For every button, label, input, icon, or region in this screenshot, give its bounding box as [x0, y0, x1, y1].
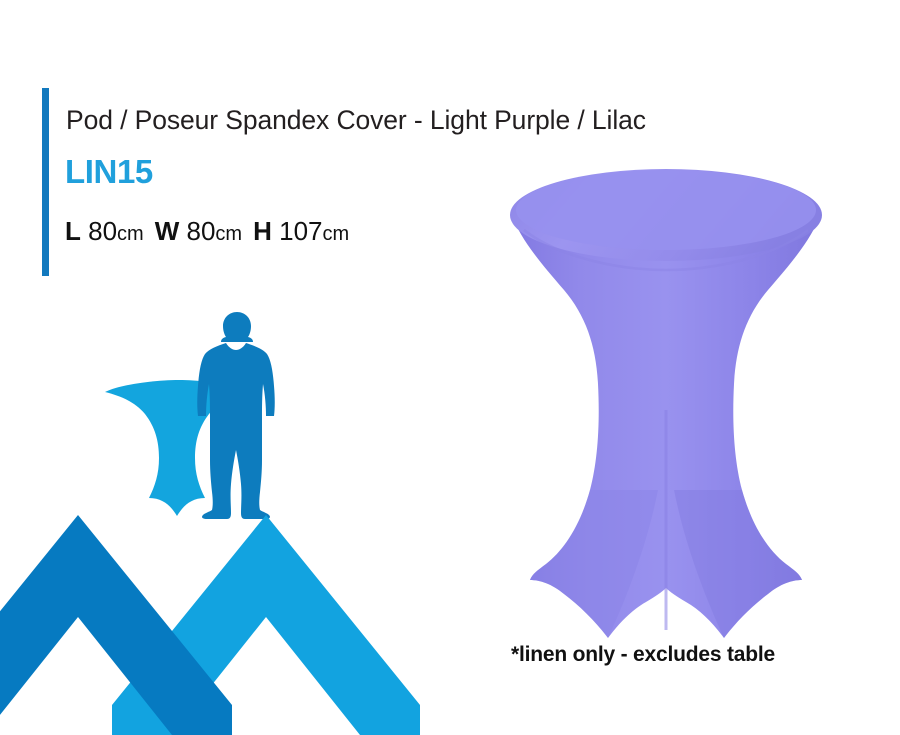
product-sku: LIN15	[65, 153, 153, 191]
dimensions-line: L 80cmW 80cmH 107cm	[65, 216, 349, 247]
dimension-length: L 80cm	[65, 216, 144, 246]
dimension-width-value: 80	[187, 216, 216, 246]
dimension-height: H 107cm	[253, 216, 349, 246]
spandex-cover-illustration	[480, 160, 900, 650]
person-silhouette-icon	[197, 312, 275, 519]
dimension-height-unit: cm	[323, 223, 350, 245]
accent-bar	[42, 88, 49, 276]
chevron-logo	[0, 505, 420, 735]
dimension-width-key: W	[155, 216, 180, 246]
scale-comparison-graphic	[95, 310, 305, 525]
dimension-width: W 80cm	[155, 216, 242, 246]
dimension-width-unit: cm	[215, 223, 242, 245]
dimension-height-key: H	[253, 216, 272, 246]
dimension-length-key: L	[65, 216, 81, 246]
cover-caption: *linen only - excludes table	[511, 643, 775, 667]
dimension-length-value: 80	[88, 216, 117, 246]
dimension-height-value: 107	[279, 216, 322, 246]
page-title: Pod / Poseur Spandex Cover - Light Purpl…	[66, 105, 646, 136]
cover-body	[512, 215, 820, 638]
dimension-length-unit: cm	[117, 223, 144, 245]
product-spec-sheet: Pod / Poseur Spandex Cover - Light Purpl…	[0, 0, 900, 727]
